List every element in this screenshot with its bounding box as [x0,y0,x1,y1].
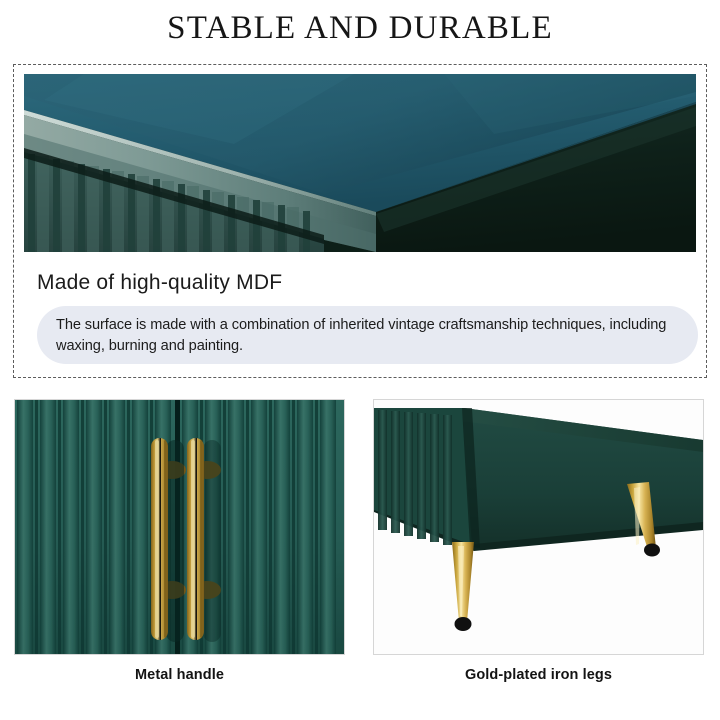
cabinet-top-corner-photo [24,74,696,252]
gold-bar-handles-photo [14,399,345,655]
detail-panel-gold-legs: Gold-plated iron legs [373,399,704,705]
feature-description-text: The surface is made with a combination o… [56,315,679,357]
feature-description-box: The surface is made with a combination o… [37,306,698,364]
detail-panel-metal-handle: Metal handle [14,399,345,705]
gold-plated-legs-photo [373,399,704,655]
panel-caption-metal-handle: Metal handle [14,667,345,683]
feature-heading: Made of high-quality MDF [37,271,282,295]
page-title: STABLE AND DURABLE [0,8,720,48]
panel-caption-gold-legs: Gold-plated iron legs [373,667,704,683]
feature-card: Made of high-quality MDF The surface is … [13,64,707,378]
